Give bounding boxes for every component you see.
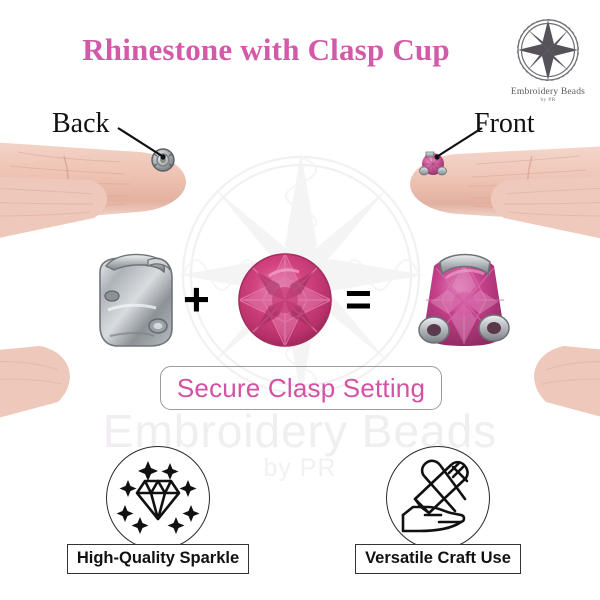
hand-with-craft-tools-icon (395, 455, 481, 541)
brand-logo: Embroidery Beads by PR (505, 14, 591, 106)
feature-versatile-craft-use: Versatile Craft Use (338, 446, 538, 574)
rhinestone-with-clasp-cup-result (412, 248, 516, 352)
callout-label-back: Back (52, 108, 110, 140)
mandala-star-logo (512, 14, 584, 86)
clasp-cup-part (92, 250, 176, 350)
page-title: Rhinestone with Clasp Cup (46, 32, 486, 68)
fingertip-upper-right (390, 128, 600, 240)
feature-craft-label: Versatile Craft Use (355, 544, 521, 574)
feature-sparkle-label: High-Quality Sparkle (67, 544, 249, 574)
secure-clasp-banner: Secure Clasp Setting (160, 366, 442, 410)
feature-craft-circle (386, 446, 490, 550)
pink-rhinestone-bead-on-fingertip (416, 148, 450, 182)
fingertip-lower-left (0, 346, 96, 456)
secure-clasp-banner-text: Secure Clasp Setting (177, 373, 425, 404)
rhinestone-part (235, 250, 335, 350)
feature-high-quality-sparkle: High-Quality Sparkle (58, 446, 258, 574)
silver-clasp-cup-bead-on-fingertip (148, 145, 178, 175)
logo-brand-sub: by PR (505, 97, 591, 103)
fingertip-lower-right (508, 346, 600, 456)
equals-sign: = (345, 276, 372, 322)
feature-sparkle-circle (106, 446, 210, 550)
callout-label-front: Front (474, 108, 535, 140)
logo-brand-name: Embroidery Beads (505, 87, 591, 97)
plus-sign: + (183, 276, 210, 322)
diamond-sparkle-icon (115, 455, 201, 541)
fingertip-upper-left (0, 126, 210, 238)
product-infographic: Embroidery Beads by PR (0, 0, 600, 600)
